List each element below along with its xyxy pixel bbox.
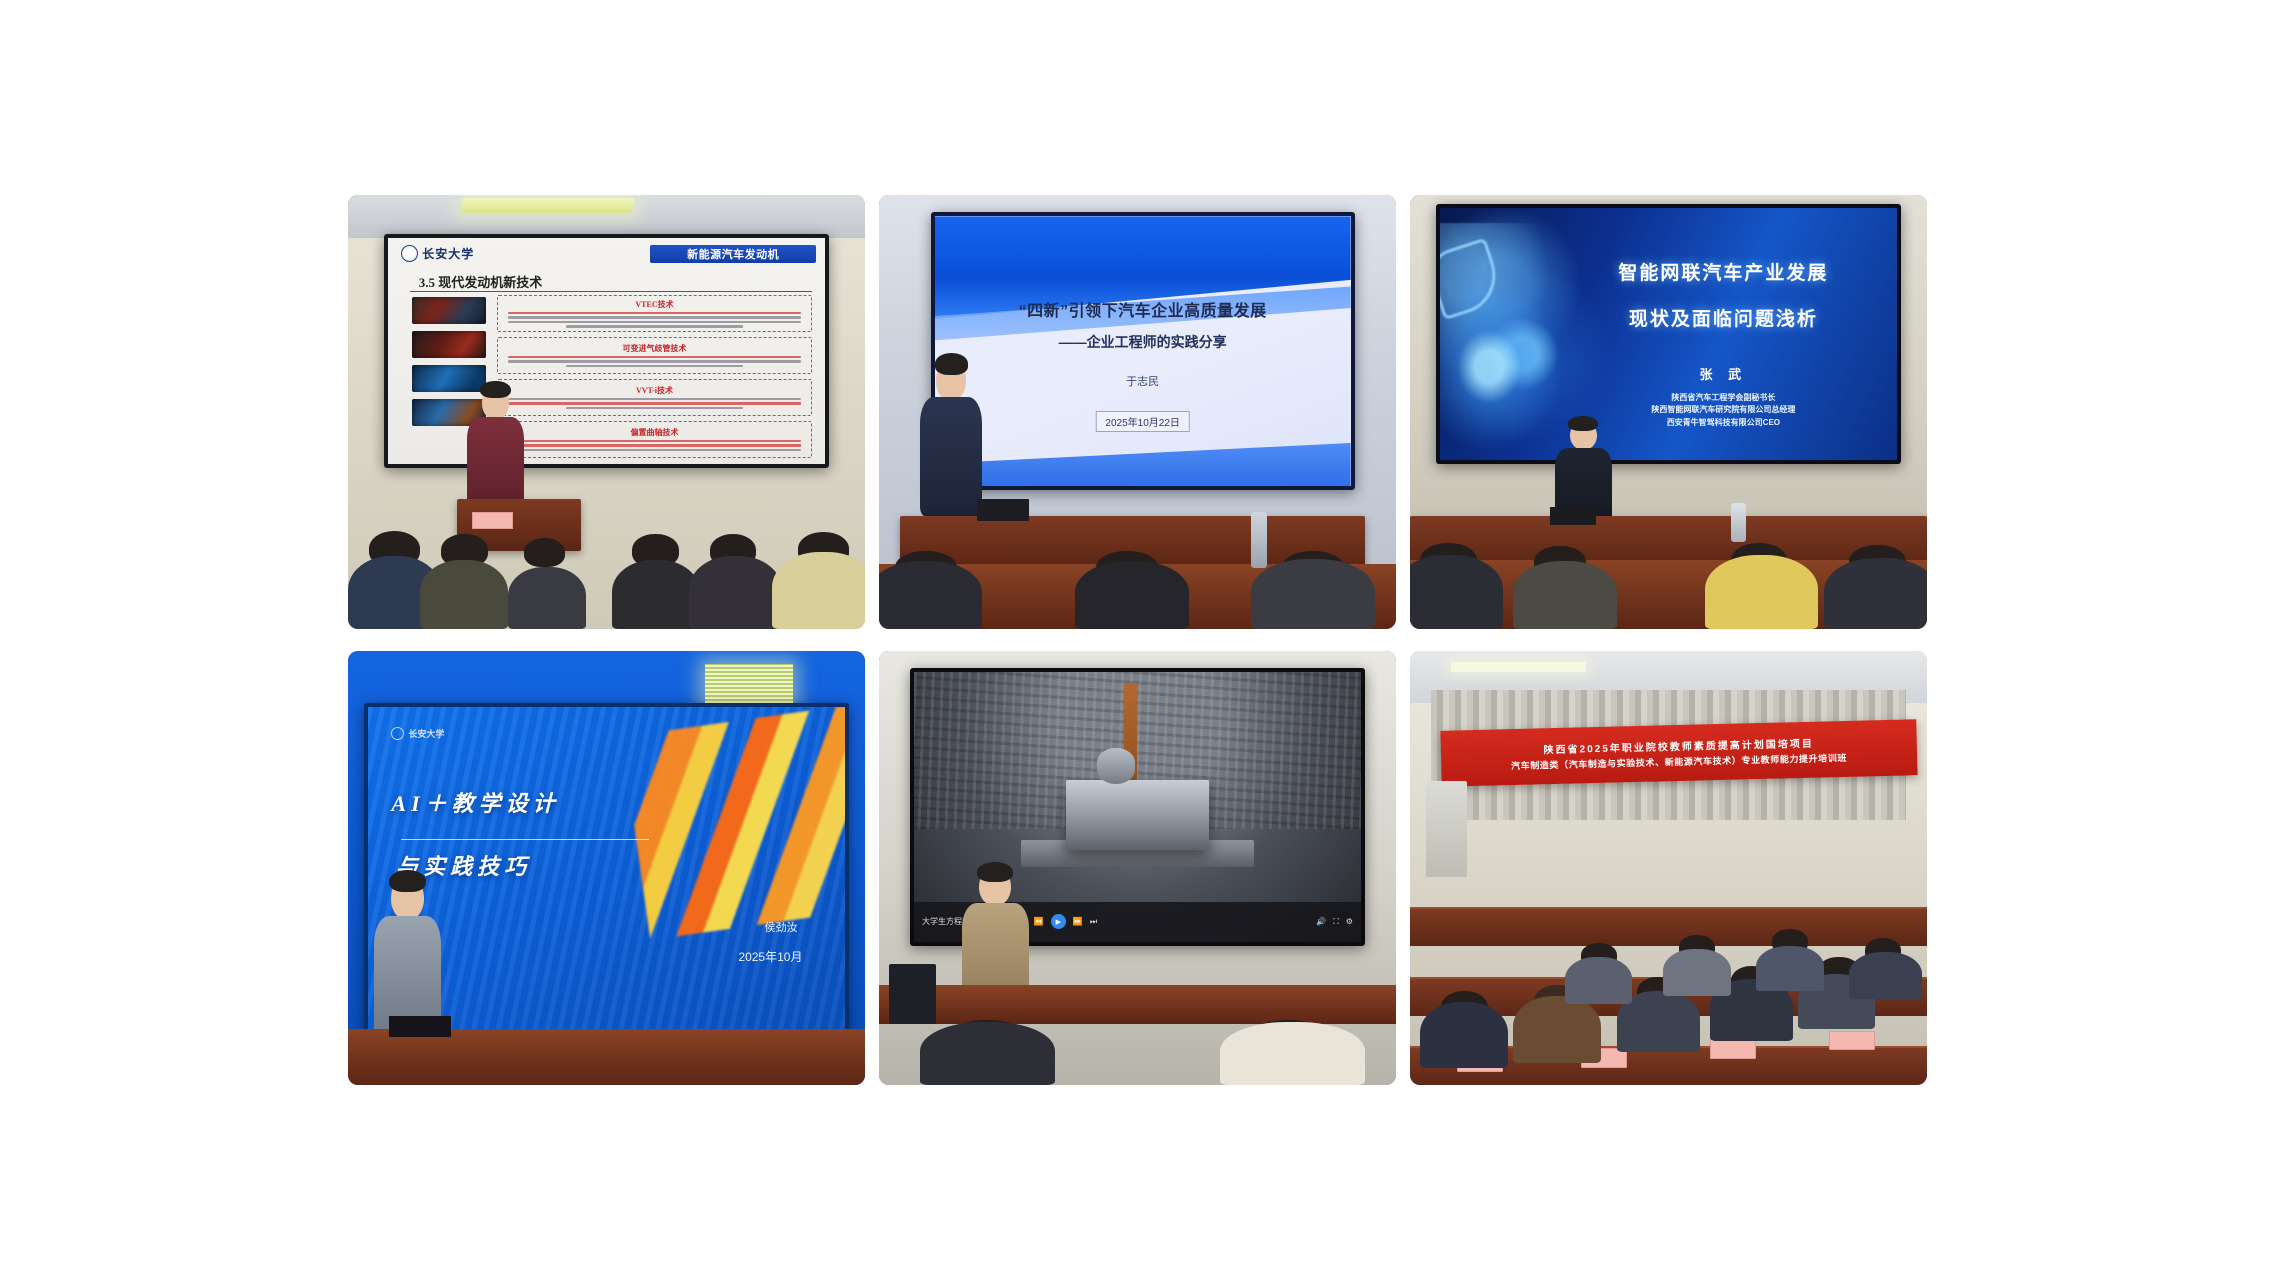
presenter-head bbox=[979, 868, 1011, 906]
credential-line: 陕西智能网联汽车研究院有限公司总经理 bbox=[1568, 404, 1879, 416]
audience-1 bbox=[348, 447, 865, 629]
text-line bbox=[508, 321, 800, 324]
slide-speaker: 张 武 bbox=[1568, 364, 1879, 383]
engine-photo-1 bbox=[412, 297, 486, 324]
text-line bbox=[508, 356, 800, 359]
led-screen-3: 智能网联汽车产业发展 现状及面临问题浅析 张 武 陕西省汽车工程学会副秘书长 陕… bbox=[1436, 204, 1901, 464]
attendee-body bbox=[1663, 949, 1730, 996]
attendee-body bbox=[1075, 561, 1189, 629]
attendee-body bbox=[1513, 996, 1601, 1063]
engine-photo-2 bbox=[412, 331, 486, 358]
attendee-head bbox=[524, 538, 565, 567]
block-title: VTEC技术 bbox=[635, 299, 673, 310]
university-name: 长安大学 bbox=[408, 727, 444, 740]
fullscreen-icon[interactable]: ⛶ bbox=[1333, 917, 1339, 927]
credential-line: 西安青牛智驾科技有限公司CEO bbox=[1568, 417, 1879, 429]
presenter-2 bbox=[920, 360, 982, 516]
content-block: VVT-i技术 bbox=[497, 379, 811, 416]
block-title: VVT-i技术 bbox=[636, 385, 673, 396]
play-icon[interactable]: ▶ bbox=[1051, 914, 1066, 929]
text-line bbox=[566, 407, 743, 410]
photo-5: 大学生方程式电车_FSE... ⏮ ⏪ ▶ ⏩ ⏭ 🔊 ⛶ ⚙ bbox=[879, 651, 1396, 1085]
audience-3 bbox=[1410, 481, 1927, 629]
slide-title-line1: 智能网联汽车产业发展 bbox=[1568, 258, 1879, 285]
attendee-body bbox=[612, 560, 700, 629]
slide-title: “四新”引领下汽车企业高质量发展 bbox=[960, 297, 1326, 321]
photo-2: “四新”引领下汽车企业高质量发展 ——企业工程师的实践分享 于志民 2025年1… bbox=[879, 195, 1396, 629]
attendee-body bbox=[772, 552, 865, 629]
block-title: 可变进气歧管技术 bbox=[623, 343, 687, 354]
slide-date: 2025年10月 bbox=[738, 948, 802, 965]
content-block: VTEC技术 bbox=[497, 295, 811, 332]
text-line bbox=[508, 312, 800, 315]
attendee-body bbox=[1220, 1022, 1365, 1085]
slide-speaker: 侯劲汝 bbox=[765, 919, 798, 935]
attendee-body bbox=[689, 556, 782, 629]
presenter-head bbox=[391, 877, 423, 920]
attendee-body bbox=[1824, 558, 1927, 629]
slide-date: 2025年10月22日 bbox=[1095, 411, 1190, 432]
slide-engine-tech: 长安大学 新能源汽车发动机 3.5 现代发动机新技术 VTEC技术 bbox=[388, 238, 825, 464]
brush-stroke-graphic bbox=[622, 707, 845, 940]
projection-screen-1: 长安大学 新能源汽车发动机 3.5 现代发动机新技术 VTEC技术 bbox=[384, 234, 829, 468]
ceiling-lamp bbox=[705, 664, 793, 707]
content-block: 可变进气歧管技术 bbox=[497, 337, 811, 374]
attendee-body bbox=[879, 561, 982, 629]
university-seal-icon bbox=[391, 727, 404, 740]
text-line bbox=[508, 398, 800, 401]
slide-title-line2: 现状及面临问题浅析 bbox=[1568, 304, 1879, 331]
slide-credentials: 陕西省汽车工程学会副秘书长 陕西智能网联汽车研究院有限公司总经理 西安青牛智驾科… bbox=[1568, 392, 1879, 429]
photo-collage: 长安大学 新能源汽车发动机 3.5 现代发动机新技术 VTEC技术 bbox=[0, 0, 2275, 1280]
slide-divider bbox=[410, 291, 812, 292]
event-banner: 陕西省2025年职业院校教师素质提高计划国培项目 汽车制造类（汽车制造与实验技术… bbox=[1440, 719, 1917, 787]
slide-section-title: 3.5 现代发动机新技术 bbox=[419, 272, 543, 291]
university-logo-4: 长安大学 bbox=[391, 727, 444, 740]
attendee-body bbox=[1420, 1002, 1508, 1069]
slide-speaker: 于志民 bbox=[935, 373, 1351, 389]
attendee-body bbox=[1705, 555, 1819, 629]
presenter-head bbox=[1570, 421, 1597, 450]
attendee-body bbox=[1410, 555, 1503, 629]
presenter-head bbox=[936, 360, 966, 401]
attendee-body bbox=[508, 567, 586, 629]
attendee-body bbox=[1565, 957, 1632, 1004]
attendee-body bbox=[1513, 561, 1616, 629]
photo-1: 长安大学 新能源汽车发动机 3.5 现代发动机新技术 VTEC技术 bbox=[348, 195, 865, 629]
title-underline bbox=[401, 839, 650, 840]
credential-line: 陕西省汽车工程学会副秘书长 bbox=[1568, 392, 1879, 404]
nameplate bbox=[441, 1050, 498, 1072]
projection-screen-2: “四新”引领下汽车企业高质量发展 ——企业工程师的实践分享 于志民 2025年1… bbox=[931, 212, 1355, 490]
slide-header-bar: 新能源汽车发动机 bbox=[650, 245, 816, 263]
slide-subtitle: ——企业工程师的实践分享 bbox=[960, 332, 1326, 352]
text-line bbox=[508, 402, 800, 405]
laptop bbox=[389, 1016, 451, 1038]
audience-6 bbox=[1410, 807, 1927, 1085]
block-title: 偏置曲轴技术 bbox=[631, 427, 679, 438]
university-name: 长安大学 bbox=[422, 245, 474, 262]
forward-icon[interactable]: ⏩ bbox=[1073, 917, 1083, 926]
slide-sixin: “四新”引领下汽车企业高质量发展 ——企业工程师的实践分享 于志民 2025年1… bbox=[935, 216, 1351, 486]
attendee-body bbox=[920, 1022, 1054, 1085]
text-line bbox=[566, 325, 743, 328]
photo-6: 陕西省2025年职业院校教师素质提高计划国培项目 汽车制造类（汽车制造与实验技术… bbox=[1410, 651, 1927, 1085]
settings-icon[interactable]: ⚙ bbox=[1346, 917, 1353, 926]
machined-part bbox=[1066, 780, 1209, 850]
text-line bbox=[566, 365, 743, 368]
university-logo-1: 长安大学 bbox=[401, 245, 474, 262]
slide-intelligent-vehicle: 智能网联汽车产业发展 现状及面临问题浅析 张 武 陕西省汽车工程学会副秘书长 陕… bbox=[1440, 208, 1897, 460]
university-seal-icon bbox=[401, 245, 418, 262]
slide-content-blocks: VTEC技术 可变进气歧管技术 VVT-i技术 bbox=[497, 295, 811, 458]
attendee-body bbox=[1849, 952, 1921, 999]
photo-4: 长安大学 AI＋教学设计 与实践技巧 侯劲汝 2025年10月 bbox=[348, 651, 865, 1085]
attendee-body bbox=[1251, 559, 1375, 629]
photo-3: 智能网联汽车产业发展 现状及面临问题浅析 张 武 陕西省汽车工程学会副秘书长 陕… bbox=[1410, 195, 1927, 629]
text-line bbox=[508, 440, 800, 443]
volume-icon[interactable]: 🔊 bbox=[1316, 917, 1326, 926]
attendee-body bbox=[420, 560, 508, 629]
text-line bbox=[508, 316, 800, 319]
slide-header-text: 新能源汽车发动机 bbox=[687, 246, 779, 262]
slide-title-line1: AI＋教学设计 bbox=[391, 786, 559, 818]
rewind-icon[interactable]: ⏪ bbox=[1034, 917, 1044, 926]
text-line bbox=[508, 360, 800, 363]
presenter-head bbox=[482, 386, 509, 420]
attendee-body bbox=[1756, 946, 1823, 990]
audience-2 bbox=[879, 499, 1396, 629]
next-icon[interactable]: ⏭ bbox=[1090, 917, 1097, 927]
audience-5 bbox=[879, 990, 1396, 1085]
slide-graphic-bottom bbox=[935, 443, 1351, 486]
